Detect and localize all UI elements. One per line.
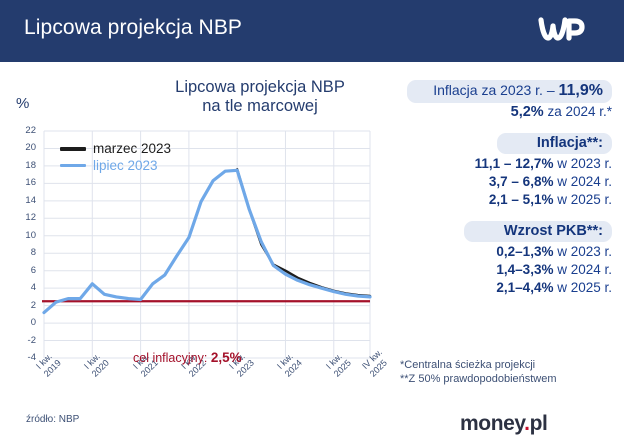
footnotes: *Centralna ścieżka projekcji **Z 50% pra…: [400, 358, 557, 386]
inflation-target-annotation: cel inflacyjny: 2,5%: [133, 350, 242, 365]
inflation-range-value: 11,1 – 12,7%: [475, 156, 554, 171]
chart-panel: Lipcowa projekcja NBP na tle marcowej % …: [0, 72, 396, 402]
target-annotation-text: cel inflacyjny:: [133, 351, 211, 365]
y-tick-label: 8: [18, 247, 36, 258]
source-note: źródło: NBP: [26, 414, 79, 425]
inflation-range-row: 11,1 – 12,7% w 2023 r.: [396, 155, 612, 172]
gdp-range-row: 2,1–4,4% w 2025 r.: [396, 279, 612, 296]
inflation-2024-value: 5,2%: [511, 104, 544, 120]
gdp-range-value: 2,1–4,4%: [496, 280, 553, 295]
y-tick-label: 14: [18, 195, 36, 206]
inflation-summary-block: Inflacja za 2023 r. – 11,9% 5,2% za 2024…: [396, 80, 624, 120]
inflation-range-value: 2,1 – 5,1%: [489, 192, 554, 207]
series-line-lipiec: [44, 170, 370, 312]
inflation-range-rest: w 2023 r.: [553, 156, 612, 171]
gdp-range-row: 1,4–3,3% w 2024 r.: [396, 261, 612, 278]
money-logo-word: money: [460, 412, 524, 435]
page-header: Lipcowa projekcja NBP: [0, 0, 624, 62]
inflation-range-rest: w 2025 r.: [553, 192, 612, 207]
y-tick-label: 12: [18, 212, 36, 223]
legend-label-marzec: marzec 2023: [93, 140, 171, 157]
gdp-range-value: 1,4–3,3%: [496, 262, 553, 277]
page-title: Lipcowa projekcja NBP: [24, 16, 242, 40]
y-tick-label: 10: [18, 230, 36, 241]
target-annotation-value: 2,5%: [211, 350, 242, 365]
y-tick-label: 16: [18, 177, 36, 188]
gdp-range-rest: w 2024 r.: [553, 262, 612, 277]
inflation-ranges-block: Inflacja**: 11,1 – 12,7% w 2023 r. 3,7 –…: [396, 133, 624, 208]
inflation-2023-pill: Inflacja za 2023 r. – 11,9%: [407, 80, 612, 103]
footnote-central-path: *Centralna ścieżka projekcji: [400, 358, 557, 372]
inflation-2023-value: 11,9%: [559, 82, 603, 99]
y-tick-label: -2: [18, 335, 36, 346]
inflation-2023-label: Inflacja za 2023 r. –: [433, 82, 558, 98]
gdp-range-row: 0,2–1,3% w 2023 r.: [396, 243, 612, 260]
legend-item-marzec: marzec 2023: [60, 140, 171, 157]
inflation-range-row: 3,7 – 6,8% w 2024 r.: [396, 173, 612, 190]
footnote-probability: **Z 50% prawdopodobieństwem: [400, 372, 557, 386]
wp-logo: [538, 13, 586, 47]
money-logo-tld: pl: [530, 412, 548, 435]
inflation-range-value: 3,7 – 6,8%: [489, 174, 554, 189]
stats-column: Inflacja za 2023 r. – 11,9% 5,2% za 2024…: [396, 80, 624, 309]
gdp-range-rest: w 2023 r.: [553, 244, 612, 259]
gdp-range-rest: w 2025 r.: [553, 280, 612, 295]
y-tick-label: 22: [18, 125, 36, 136]
gdp-range-value: 0,2–1,3%: [496, 244, 553, 259]
y-tick-label: 20: [18, 142, 36, 153]
inflation-ranges-heading: Inflacja**:: [497, 133, 612, 154]
inflation-2024-rest: za 2024 r.*: [544, 104, 612, 119]
y-tick-label: -4: [18, 352, 36, 363]
infographic-page: Lipcowa projekcja NBP Lipcowa projekcja …: [0, 0, 624, 447]
gdp-ranges-block: Wzrost PKB**: 0,2–1,3% w 2023 r. 1,4–3,3…: [396, 221, 624, 296]
y-tick-label: 4: [18, 282, 36, 293]
legend-label-lipiec: lipiec 2023: [93, 157, 158, 174]
y-tick-label: 18: [18, 160, 36, 171]
gdp-ranges-heading: Wzrost PKB**:: [464, 221, 612, 242]
y-tick-label: 0: [18, 317, 36, 328]
legend-item-lipiec: lipiec 2023: [60, 157, 171, 174]
y-tick-label: 6: [18, 265, 36, 276]
legend-swatch-lipiec: [60, 164, 86, 167]
money-pl-logo: money.pl: [460, 412, 547, 436]
y-tick-label: 2: [18, 300, 36, 311]
chart-series-lines: [44, 169, 370, 312]
chart-legend: marzec 2023 lipiec 2023: [60, 140, 171, 174]
inflation-range-rest: w 2024 r.: [553, 174, 612, 189]
inflation-2024-line: 5,2% za 2024 r.*: [396, 104, 612, 120]
inflation-range-row: 2,1 – 5,1% w 2025 r.: [396, 191, 612, 208]
legend-swatch-marzec: [60, 147, 86, 151]
